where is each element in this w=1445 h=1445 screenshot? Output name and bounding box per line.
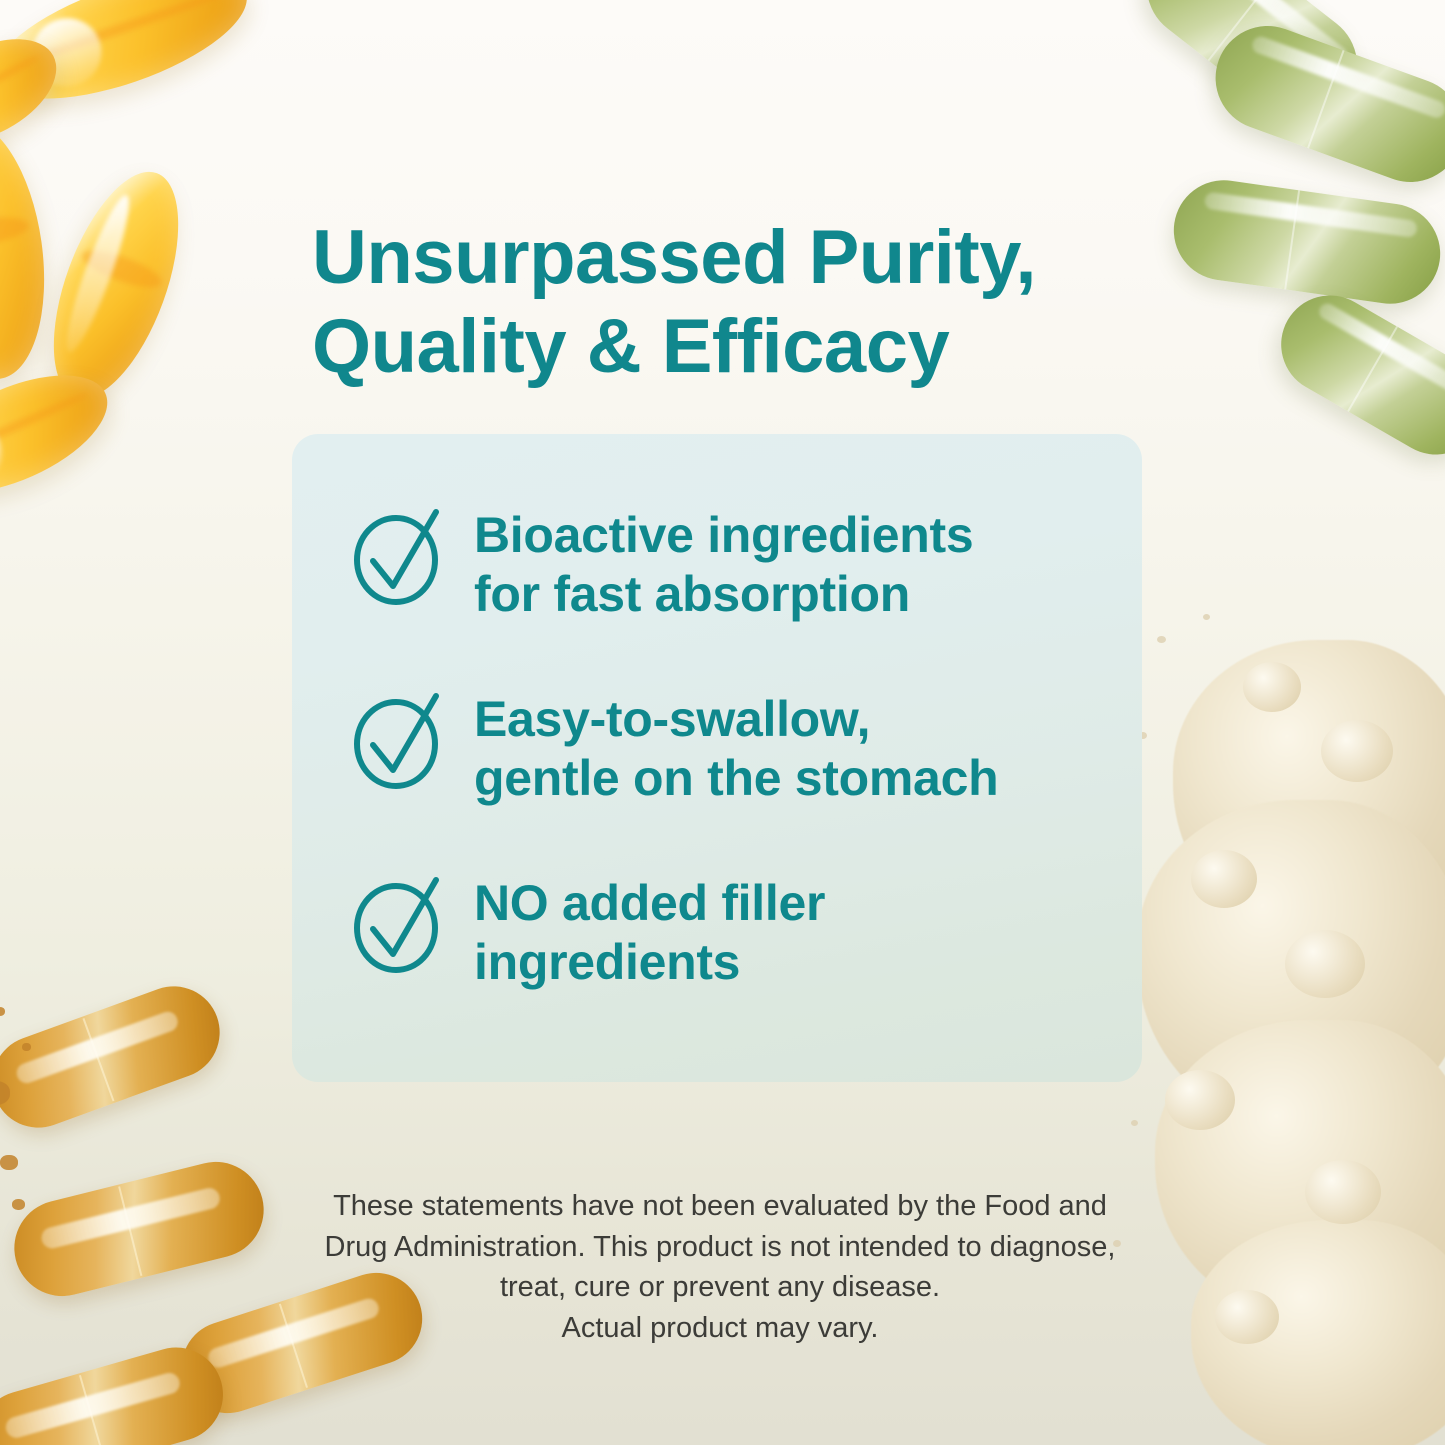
benefit-item-bioactive: Bioactive ingredients for fast absorptio… (346, 500, 1088, 624)
powder-clump (1305, 1160, 1381, 1224)
headline-line-2: Quality & Efficacy (312, 303, 1152, 392)
softgel-capsule (28, 156, 203, 414)
powder-clump (1191, 850, 1257, 908)
benefit-line: ingredients (474, 933, 825, 992)
powder-mass (1191, 1220, 1445, 1445)
turmeric-speck (0, 1007, 5, 1016)
green-capsule (1125, 0, 1379, 142)
benefit-line: Easy-to-swallow, (474, 690, 998, 749)
powder-clump (1285, 930, 1365, 998)
product-benefits-graphic: Unsurpassed Purity, Quality & Efficacy B… (0, 0, 1445, 1445)
protein-powder-pile (1095, 600, 1445, 1445)
softgel-capsule (0, 0, 261, 125)
powder-mass (1155, 1020, 1445, 1320)
page-title: Unsurpassed Purity, Quality & Efficacy (312, 214, 1152, 392)
softgel-capsule (0, 18, 73, 164)
powder-speck (1203, 614, 1210, 620)
powder-speck (1131, 1120, 1138, 1126)
yellow-softgel-capsules (0, 0, 300, 620)
benefit-text: NO added filler ingredients (474, 868, 825, 992)
disclaimer-line: Drug Administration. This product is not… (310, 1227, 1130, 1268)
turmeric-capsule (4, 1152, 274, 1307)
softgel-capsule (0, 351, 124, 516)
actual-product-note: Actual product may vary. (310, 1312, 1130, 1345)
powder-speck (1157, 636, 1166, 643)
green-capsule (1201, 11, 1445, 196)
powder-mass (1173, 640, 1445, 940)
powder-clump (1243, 662, 1301, 712)
benefit-text: Easy-to-swallow, gentle on the stomach (474, 684, 998, 808)
turmeric-speck (22, 1043, 31, 1051)
benefits-card: Bioactive ingredients for fast absorptio… (292, 434, 1142, 1082)
powder-mass (1137, 800, 1445, 1130)
turmeric-speck (0, 1155, 18, 1170)
powder-clump (1165, 1070, 1235, 1130)
softgel-capsule (0, 113, 60, 387)
benefit-item-easy-to-swallow: Easy-to-swallow, gentle on the stomach (346, 684, 1088, 808)
turmeric-speck (12, 1199, 25, 1210)
green-herbal-capsules (1125, 0, 1445, 490)
turmeric-capsule (0, 1336, 234, 1445)
disclaimer-line: These statements have not been evaluated… (310, 1186, 1130, 1227)
benefit-item-no-fillers: NO added filler ingredients (346, 868, 1088, 992)
benefit-line: NO added filler (474, 874, 825, 933)
benefit-line: gentle on the stomach (474, 749, 998, 808)
benefit-line: Bioactive ingredients (474, 506, 973, 565)
check-circle-icon (346, 688, 450, 792)
check-circle-icon (346, 872, 450, 976)
disclaimer-line: treat, cure or prevent any disease. (310, 1267, 1130, 1308)
benefit-text: Bioactive ingredients for fast absorptio… (474, 500, 973, 624)
powder-clump (1321, 720, 1393, 782)
powder-clump (1215, 1290, 1279, 1344)
headline-line-1: Unsurpassed Purity, (312, 214, 1152, 303)
turmeric-capsule (0, 973, 233, 1140)
benefit-line: for fast absorption (474, 565, 973, 624)
check-circle-icon (346, 504, 450, 608)
fda-disclaimer: These statements have not been evaluated… (310, 1186, 1130, 1308)
turmeric-speck (0, 1081, 10, 1105)
green-capsule (1167, 174, 1445, 310)
green-capsule (1263, 278, 1445, 473)
